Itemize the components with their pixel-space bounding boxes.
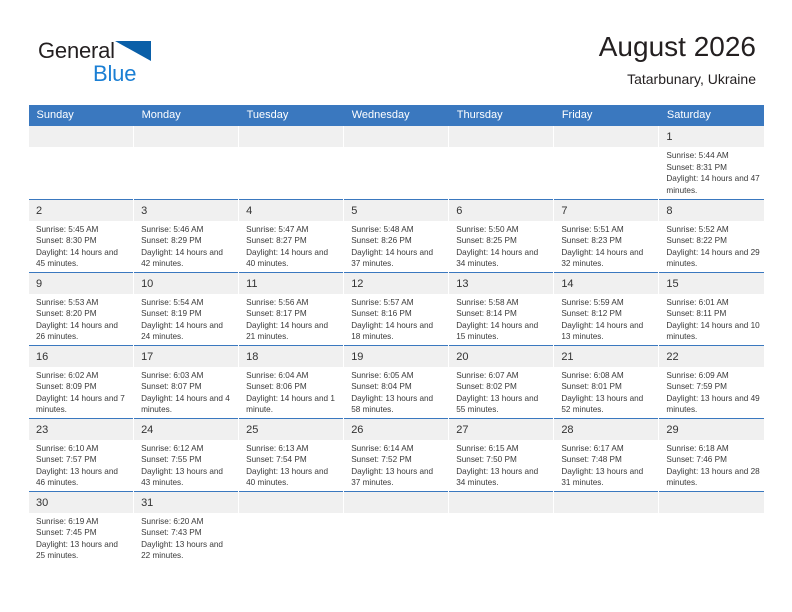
calendar-body: 1Sunrise: 5:44 AMSunset: 8:31 PMDaylight…	[29, 126, 765, 564]
day-number: 25	[239, 419, 343, 440]
day-number: 21	[554, 346, 658, 367]
calendar-week-row: 1Sunrise: 5:44 AMSunset: 8:31 PMDaylight…	[29, 126, 765, 199]
daylight-text: Daylight: 13 hours and 37 minutes.	[351, 466, 444, 489]
sunrise-text: Sunrise: 6:04 AM	[246, 370, 339, 382]
daylight-text: Daylight: 13 hours and 40 minutes.	[246, 466, 339, 489]
sunset-text: Sunset: 7:50 PM	[456, 454, 549, 466]
sunset-text: Sunset: 8:27 PM	[246, 235, 339, 247]
sunset-text: Sunset: 7:57 PM	[36, 454, 129, 466]
day-number: 26	[344, 419, 448, 440]
sunrise-text: Sunrise: 6:15 AM	[456, 443, 549, 455]
day-info: Sunrise: 6:02 AMSunset: 8:09 PMDaylight:…	[29, 367, 133, 416]
day-number	[659, 492, 764, 513]
sunset-text: Sunset: 7:43 PM	[141, 527, 234, 539]
page-subtitle: Tatarbunary, Ukraine	[599, 69, 756, 89]
sunset-text: Sunset: 8:23 PM	[561, 235, 654, 247]
day-info: Sunrise: 5:46 AMSunset: 8:29 PMDaylight:…	[134, 221, 238, 270]
sunrise-text: Sunrise: 6:20 AM	[141, 516, 234, 528]
sunset-text: Sunset: 8:19 PM	[141, 308, 234, 320]
calendar-day-cell[interactable]: 21Sunrise: 6:08 AMSunset: 8:01 PMDayligh…	[554, 345, 659, 418]
sunrise-text: Sunrise: 6:07 AM	[456, 370, 549, 382]
sunrise-text: Sunrise: 6:08 AM	[561, 370, 654, 382]
sunset-text: Sunset: 8:25 PM	[456, 235, 549, 247]
day-info: Sunrise: 6:19 AMSunset: 7:45 PMDaylight:…	[29, 513, 133, 562]
calendar-day-cell[interactable]: 17Sunrise: 6:03 AMSunset: 8:07 PMDayligh…	[134, 345, 239, 418]
daylight-text: Daylight: 14 hours and 42 minutes.	[141, 247, 234, 270]
daylight-text: Daylight: 13 hours and 25 minutes.	[36, 539, 129, 562]
calendar-week-row: 2Sunrise: 5:45 AMSunset: 8:30 PMDaylight…	[29, 199, 765, 272]
sunrise-text: Sunrise: 5:56 AM	[246, 297, 339, 309]
day-number: 15	[659, 273, 764, 294]
weekday-header-friday: Friday	[554, 105, 659, 126]
daylight-text: Daylight: 13 hours and 43 minutes.	[141, 466, 234, 489]
day-info: Sunrise: 5:56 AMSunset: 8:17 PMDaylight:…	[239, 294, 343, 343]
day-info: Sunrise: 6:08 AMSunset: 8:01 PMDaylight:…	[554, 367, 658, 416]
sunrise-text: Sunrise: 6:12 AM	[141, 443, 234, 455]
day-number	[554, 492, 658, 513]
day-number: 28	[554, 419, 658, 440]
calendar-day-cell[interactable]: 28Sunrise: 6:17 AMSunset: 7:48 PMDayligh…	[554, 418, 659, 491]
calendar-week-row: 30Sunrise: 6:19 AMSunset: 7:45 PMDayligh…	[29, 491, 765, 564]
daylight-text: Daylight: 14 hours and 18 minutes.	[351, 320, 444, 343]
day-number: 3	[134, 200, 238, 221]
calendar-day-cell[interactable]: 25Sunrise: 6:13 AMSunset: 7:54 PMDayligh…	[239, 418, 344, 491]
day-number	[449, 126, 553, 147]
day-number: 31	[134, 492, 238, 513]
calendar-day-cell[interactable]: 22Sunrise: 6:09 AMSunset: 7:59 PMDayligh…	[659, 345, 764, 418]
day-number: 9	[29, 273, 133, 294]
page-title: August 2026	[599, 30, 756, 64]
day-info: Sunrise: 5:47 AMSunset: 8:27 PMDaylight:…	[239, 221, 343, 270]
calendar-day-cell-empty	[554, 126, 659, 199]
calendar-head: Sunday Monday Tuesday Wednesday Thursday…	[29, 105, 765, 126]
day-number: 1	[659, 126, 764, 147]
calendar-day-cell[interactable]: 15Sunrise: 6:01 AMSunset: 8:11 PMDayligh…	[659, 272, 764, 345]
calendar-day-cell-empty	[344, 126, 449, 199]
sunset-text: Sunset: 8:20 PM	[36, 308, 129, 320]
weekday-header-saturday: Saturday	[659, 105, 764, 126]
brand-logo[interactable]: General Blue	[38, 38, 238, 92]
sunrise-text: Sunrise: 6:05 AM	[351, 370, 444, 382]
day-number: 16	[29, 346, 133, 367]
day-number: 6	[449, 200, 553, 221]
day-number	[449, 492, 553, 513]
day-number	[29, 126, 133, 147]
calendar-day-cell-empty	[344, 491, 449, 564]
sunrise-text: Sunrise: 6:14 AM	[351, 443, 444, 455]
day-number	[239, 492, 343, 513]
daylight-text: Daylight: 13 hours and 22 minutes.	[141, 539, 234, 562]
brand-logo-top: General	[38, 38, 238, 64]
sunset-text: Sunset: 7:46 PM	[666, 454, 760, 466]
sunrise-text: Sunrise: 5:51 AM	[561, 224, 654, 236]
calendar-day-cell[interactable]: 12Sunrise: 5:57 AMSunset: 8:16 PMDayligh…	[344, 272, 449, 345]
day-number	[344, 126, 448, 147]
day-info: Sunrise: 5:59 AMSunset: 8:12 PMDaylight:…	[554, 294, 658, 343]
daylight-text: Daylight: 14 hours and 29 minutes.	[666, 247, 760, 270]
daylight-text: Daylight: 14 hours and 13 minutes.	[561, 320, 654, 343]
weekday-header-monday: Monday	[134, 105, 239, 126]
calendar-week-row: 16Sunrise: 6:02 AMSunset: 8:09 PMDayligh…	[29, 345, 765, 418]
daylight-text: Daylight: 14 hours and 32 minutes.	[561, 247, 654, 270]
sunrise-text: Sunrise: 5:57 AM	[351, 297, 444, 309]
day-info: Sunrise: 6:17 AMSunset: 7:48 PMDaylight:…	[554, 440, 658, 489]
sunset-text: Sunset: 8:31 PM	[666, 162, 760, 174]
sunset-text: Sunset: 8:09 PM	[36, 381, 129, 393]
sunset-text: Sunset: 8:11 PM	[666, 308, 760, 320]
sunset-text: Sunset: 8:12 PM	[561, 308, 654, 320]
day-info: Sunrise: 6:04 AMSunset: 8:06 PMDaylight:…	[239, 367, 343, 416]
sunset-text: Sunset: 7:52 PM	[351, 454, 444, 466]
sunset-text: Sunset: 7:54 PM	[246, 454, 339, 466]
calendar-day-cell-empty	[449, 126, 554, 199]
triangle-flag-icon	[115, 41, 153, 72]
day-info: Sunrise: 6:18 AMSunset: 7:46 PMDaylight:…	[659, 440, 764, 489]
brand-name-general: General	[38, 38, 115, 63]
day-number: 13	[449, 273, 553, 294]
sunset-text: Sunset: 7:48 PM	[561, 454, 654, 466]
calendar-day-cell[interactable]: 11Sunrise: 5:56 AMSunset: 8:17 PMDayligh…	[239, 272, 344, 345]
day-info: Sunrise: 5:57 AMSunset: 8:16 PMDaylight:…	[344, 294, 448, 343]
day-info: Sunrise: 5:52 AMSunset: 8:22 PMDaylight:…	[659, 221, 764, 270]
day-info: Sunrise: 5:48 AMSunset: 8:26 PMDaylight:…	[344, 221, 448, 270]
day-number: 7	[554, 200, 658, 221]
sunrise-text: Sunrise: 5:48 AM	[351, 224, 444, 236]
calendar-day-cell[interactable]: 24Sunrise: 6:12 AMSunset: 7:55 PMDayligh…	[134, 418, 239, 491]
day-number	[134, 126, 238, 147]
sunrise-text: Sunrise: 5:47 AM	[246, 224, 339, 236]
daylight-text: Daylight: 13 hours and 28 minutes.	[666, 466, 760, 489]
sunset-text: Sunset: 7:45 PM	[36, 527, 129, 539]
day-number: 5	[344, 200, 448, 221]
daylight-text: Daylight: 13 hours and 52 minutes.	[561, 393, 654, 416]
sunrise-text: Sunrise: 6:10 AM	[36, 443, 129, 455]
daylight-text: Daylight: 13 hours and 58 minutes.	[351, 393, 444, 416]
day-info: Sunrise: 5:45 AMSunset: 8:30 PMDaylight:…	[29, 221, 133, 270]
sunrise-text: Sunrise: 6:09 AM	[666, 370, 760, 382]
day-info: Sunrise: 6:10 AMSunset: 7:57 PMDaylight:…	[29, 440, 133, 489]
calendar-day-cell[interactable]: 18Sunrise: 6:04 AMSunset: 8:06 PMDayligh…	[239, 345, 344, 418]
calendar-week-row: 23Sunrise: 6:10 AMSunset: 7:57 PMDayligh…	[29, 418, 765, 491]
calendar-day-cell[interactable]: 5Sunrise: 5:48 AMSunset: 8:26 PMDaylight…	[344, 199, 449, 272]
sunset-text: Sunset: 7:55 PM	[141, 454, 234, 466]
day-info: Sunrise: 5:58 AMSunset: 8:14 PMDaylight:…	[449, 294, 553, 343]
sunset-text: Sunset: 8:17 PM	[246, 308, 339, 320]
calendar-day-cell[interactable]: 31Sunrise: 6:20 AMSunset: 7:43 PMDayligh…	[134, 491, 239, 564]
sunrise-text: Sunrise: 6:18 AM	[666, 443, 760, 455]
day-number: 20	[449, 346, 553, 367]
daylight-text: Daylight: 14 hours and 24 minutes.	[141, 320, 234, 343]
sunrise-text: Sunrise: 5:59 AM	[561, 297, 654, 309]
day-number	[239, 126, 343, 147]
sunset-text: Sunset: 8:07 PM	[141, 381, 234, 393]
daylight-text: Daylight: 14 hours and 37 minutes.	[351, 247, 444, 270]
day-info: Sunrise: 6:12 AMSunset: 7:55 PMDaylight:…	[134, 440, 238, 489]
calendar-day-cell[interactable]: 7Sunrise: 5:51 AMSunset: 8:23 PMDaylight…	[554, 199, 659, 272]
sunset-text: Sunset: 8:06 PM	[246, 381, 339, 393]
calendar-day-cell[interactable]: 26Sunrise: 6:14 AMSunset: 7:52 PMDayligh…	[344, 418, 449, 491]
calendar-day-cell[interactable]: 19Sunrise: 6:05 AMSunset: 8:04 PMDayligh…	[344, 345, 449, 418]
daylight-text: Daylight: 14 hours and 47 minutes.	[666, 173, 760, 196]
daylight-text: Daylight: 13 hours and 31 minutes.	[561, 466, 654, 489]
calendar-day-cell[interactable]: 23Sunrise: 6:10 AMSunset: 7:57 PMDayligh…	[29, 418, 134, 491]
sunset-text: Sunset: 8:22 PM	[666, 235, 760, 247]
day-number: 24	[134, 419, 238, 440]
sunrise-text: Sunrise: 5:53 AM	[36, 297, 129, 309]
sunrise-text: Sunrise: 6:17 AM	[561, 443, 654, 455]
daylight-text: Daylight: 14 hours and 15 minutes.	[456, 320, 549, 343]
day-number: 23	[29, 419, 133, 440]
calendar-day-cell[interactable]: 27Sunrise: 6:15 AMSunset: 7:50 PMDayligh…	[449, 418, 554, 491]
daylight-text: Daylight: 13 hours and 49 minutes.	[666, 393, 760, 416]
calendar-day-cell-empty	[449, 491, 554, 564]
day-number: 8	[659, 200, 764, 221]
daylight-text: Daylight: 13 hours and 46 minutes.	[36, 466, 129, 489]
daylight-text: Daylight: 14 hours and 4 minutes.	[141, 393, 234, 416]
day-info: Sunrise: 6:09 AMSunset: 7:59 PMDaylight:…	[659, 367, 764, 416]
day-number: 12	[344, 273, 448, 294]
day-info: Sunrise: 6:01 AMSunset: 8:11 PMDaylight:…	[659, 294, 764, 343]
day-number: 10	[134, 273, 238, 294]
day-info: Sunrise: 6:15 AMSunset: 7:50 PMDaylight:…	[449, 440, 553, 489]
sunset-text: Sunset: 8:01 PM	[561, 381, 654, 393]
sunset-text: Sunset: 8:02 PM	[456, 381, 549, 393]
sunrise-text: Sunrise: 5:46 AM	[141, 224, 234, 236]
day-info: Sunrise: 5:53 AMSunset: 8:20 PMDaylight:…	[29, 294, 133, 343]
calendar-day-cell[interactable]: 2Sunrise: 5:45 AMSunset: 8:30 PMDaylight…	[29, 199, 134, 272]
sunrise-text: Sunrise: 5:44 AM	[666, 150, 760, 162]
calendar-week-row: 9Sunrise: 5:53 AMSunset: 8:20 PMDaylight…	[29, 272, 765, 345]
calendar-page: General Blue August 2026 Tatarbunary, Uk…	[0, 0, 792, 612]
weekday-header-wednesday: Wednesday	[344, 105, 449, 126]
day-number: 14	[554, 273, 658, 294]
calendar-day-cell[interactable]: 20Sunrise: 6:07 AMSunset: 8:02 PMDayligh…	[449, 345, 554, 418]
calendar-day-cell[interactable]: 6Sunrise: 5:50 AMSunset: 8:25 PMDaylight…	[449, 199, 554, 272]
calendar-day-cell[interactable]: 16Sunrise: 6:02 AMSunset: 8:09 PMDayligh…	[29, 345, 134, 418]
calendar-table: Sunday Monday Tuesday Wednesday Thursday…	[28, 105, 764, 564]
sunset-text: Sunset: 8:04 PM	[351, 381, 444, 393]
calendar-day-cell[interactable]: 4Sunrise: 5:47 AMSunset: 8:27 PMDaylight…	[239, 199, 344, 272]
sunrise-text: Sunrise: 6:19 AM	[36, 516, 129, 528]
daylight-text: Daylight: 13 hours and 34 minutes.	[456, 466, 549, 489]
sunrise-text: Sunrise: 5:52 AM	[666, 224, 760, 236]
daylight-text: Daylight: 13 hours and 55 minutes.	[456, 393, 549, 416]
day-info: Sunrise: 6:20 AMSunset: 7:43 PMDaylight:…	[134, 513, 238, 562]
calendar-day-cell[interactable]: 3Sunrise: 5:46 AMSunset: 8:29 PMDaylight…	[134, 199, 239, 272]
calendar-day-cell[interactable]: 9Sunrise: 5:53 AMSunset: 8:20 PMDaylight…	[29, 272, 134, 345]
day-info: Sunrise: 6:13 AMSunset: 7:54 PMDaylight:…	[239, 440, 343, 489]
day-info: Sunrise: 6:03 AMSunset: 8:07 PMDaylight:…	[134, 367, 238, 416]
weekday-header-thursday: Thursday	[449, 105, 554, 126]
day-info: Sunrise: 6:07 AMSunset: 8:02 PMDaylight:…	[449, 367, 553, 416]
day-number: 22	[659, 346, 764, 367]
sunset-text: Sunset: 8:26 PM	[351, 235, 444, 247]
day-info: Sunrise: 5:54 AMSunset: 8:19 PMDaylight:…	[134, 294, 238, 343]
calendar-day-cell-empty	[239, 126, 344, 199]
sunset-text: Sunset: 8:30 PM	[36, 235, 129, 247]
calendar-day-cell-empty	[554, 491, 659, 564]
calendar-day-cell[interactable]: 14Sunrise: 5:59 AMSunset: 8:12 PMDayligh…	[554, 272, 659, 345]
sunset-text: Sunset: 7:59 PM	[666, 381, 760, 393]
sunrise-text: Sunrise: 6:02 AM	[36, 370, 129, 382]
daylight-text: Daylight: 14 hours and 45 minutes.	[36, 247, 129, 270]
daylight-text: Daylight: 14 hours and 7 minutes.	[36, 393, 129, 416]
day-info: Sunrise: 5:51 AMSunset: 8:23 PMDaylight:…	[554, 221, 658, 270]
weekday-header-tuesday: Tuesday	[239, 105, 344, 126]
daylight-text: Daylight: 14 hours and 1 minute.	[246, 393, 339, 416]
calendar-day-cell[interactable]: 1Sunrise: 5:44 AMSunset: 8:31 PMDaylight…	[659, 126, 764, 199]
day-number: 2	[29, 200, 133, 221]
calendar-day-cell[interactable]: 30Sunrise: 6:19 AMSunset: 7:45 PMDayligh…	[29, 491, 134, 564]
day-info: Sunrise: 5:44 AMSunset: 8:31 PMDaylight:…	[659, 147, 764, 196]
calendar-day-cell-empty	[239, 491, 344, 564]
sunrise-text: Sunrise: 6:01 AM	[666, 297, 760, 309]
daylight-text: Daylight: 14 hours and 40 minutes.	[246, 247, 339, 270]
weekday-header-sunday: Sunday	[29, 105, 134, 126]
sunset-text: Sunset: 8:16 PM	[351, 308, 444, 320]
day-number: 30	[29, 492, 133, 513]
calendar-day-cell[interactable]: 10Sunrise: 5:54 AMSunset: 8:19 PMDayligh…	[134, 272, 239, 345]
day-number	[344, 492, 448, 513]
day-number: 27	[449, 419, 553, 440]
daylight-text: Daylight: 14 hours and 21 minutes.	[246, 320, 339, 343]
calendar-day-cell[interactable]: 29Sunrise: 6:18 AMSunset: 7:46 PMDayligh…	[659, 418, 764, 491]
day-info: Sunrise: 6:14 AMSunset: 7:52 PMDaylight:…	[344, 440, 448, 489]
calendar-day-cell-empty	[29, 126, 134, 199]
sunset-text: Sunset: 8:29 PM	[141, 235, 234, 247]
day-number: 18	[239, 346, 343, 367]
day-number: 4	[239, 200, 343, 221]
sunrise-text: Sunrise: 5:45 AM	[36, 224, 129, 236]
calendar-day-cell-empty	[134, 126, 239, 199]
sunrise-text: Sunrise: 6:13 AM	[246, 443, 339, 455]
day-number	[554, 126, 658, 147]
day-number: 29	[659, 419, 764, 440]
sunrise-text: Sunrise: 5:58 AM	[456, 297, 549, 309]
sunrise-text: Sunrise: 6:03 AM	[141, 370, 234, 382]
calendar-day-cell-empty	[659, 491, 764, 564]
day-info: Sunrise: 6:05 AMSunset: 8:04 PMDaylight:…	[344, 367, 448, 416]
daylight-text: Daylight: 14 hours and 34 minutes.	[456, 247, 549, 270]
calendar-day-cell[interactable]: 13Sunrise: 5:58 AMSunset: 8:14 PMDayligh…	[449, 272, 554, 345]
title-block: August 2026 Tatarbunary, Ukraine	[599, 30, 756, 89]
daylight-text: Daylight: 14 hours and 10 minutes.	[666, 320, 760, 343]
day-info: Sunrise: 5:50 AMSunset: 8:25 PMDaylight:…	[449, 221, 553, 270]
weekday-header-row: Sunday Monday Tuesday Wednesday Thursday…	[29, 105, 765, 126]
sunset-text: Sunset: 8:14 PM	[456, 308, 549, 320]
day-number: 11	[239, 273, 343, 294]
calendar-day-cell[interactable]: 8Sunrise: 5:52 AMSunset: 8:22 PMDaylight…	[659, 199, 764, 272]
day-number: 19	[344, 346, 448, 367]
daylight-text: Daylight: 14 hours and 26 minutes.	[36, 320, 129, 343]
page-header: General Blue August 2026 Tatarbunary, Uk…	[0, 0, 792, 104]
day-number: 17	[134, 346, 238, 367]
sunrise-text: Sunrise: 5:54 AM	[141, 297, 234, 309]
sunrise-text: Sunrise: 5:50 AM	[456, 224, 549, 236]
